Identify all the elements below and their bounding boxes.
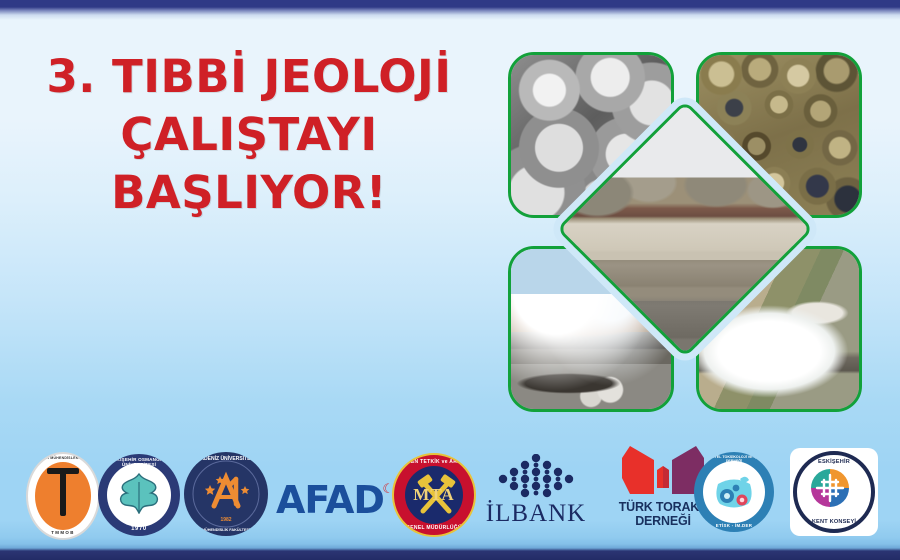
etisk-emblem: ENDÜSTRİYEL TOKSİKOLOJİ VE İŞ HİJYENİ DE… bbox=[694, 452, 774, 532]
afad-logo[interactable]: AFAD ☾ bbox=[276, 478, 384, 522]
jmo-bottom-label: TMMOB bbox=[28, 530, 98, 535]
mta-wordmark: MTA bbox=[394, 485, 474, 505]
ilbank-diamond-dots-icon bbox=[484, 454, 588, 498]
eskisehir-osmangazi-universitesi-logo[interactable]: ESKİŞEHİR OSMANGAZİ ÜNİVERSİTESİ 1970 bbox=[98, 454, 180, 536]
akdeniz-ring-label: AKDENİZ ÜNİVERSİTESİ bbox=[184, 456, 268, 462]
afad-wordmark: AFAD ☾ bbox=[276, 478, 384, 522]
kent-konseyi-emblem: ESKİŞEHİR KENT KONSEYİ bbox=[793, 451, 875, 533]
akdeniz-emblem: AKDENİZ ÜNİVERSİTESİ 1982 MÜHENDİSLİK FA… bbox=[184, 452, 268, 536]
mta-ring-bottom-label: GENEL MÜDÜRLÜĞÜ bbox=[394, 525, 474, 531]
mta-emblem: MTA MADEN TETKİK ve ARAMA GENEL MÜDÜRLÜĞ… bbox=[392, 453, 476, 537]
kent-konseyi-card: ESKİŞEHİR KENT KONSEYİ bbox=[790, 448, 878, 536]
ilbank-wordmark: İLBANK bbox=[484, 500, 588, 528]
kent-ring-bottom-label: KENT KONSEYİ bbox=[797, 519, 871, 525]
leaf-icon bbox=[117, 472, 161, 514]
esogu-emblem: ESKİŞEHİR OSMANGAZİ ÜNİVERSİTESİ 1970 bbox=[98, 454, 180, 536]
jmo-emblem: JEOLOJİ MÜHENDİSLERİ ODASI TMMOB bbox=[26, 452, 100, 540]
headline-line-1: 3. TIBBİ JEOLOJİ bbox=[10, 48, 488, 106]
esogu-ring-label: ESKİŞEHİR OSMANGAZİ ÜNİVERSİTESİ bbox=[98, 457, 180, 467]
ilbank-logo[interactable]: İLBANK bbox=[484, 454, 588, 528]
flask-gears-icon bbox=[694, 452, 774, 532]
akdeniz-year-label: 1982 bbox=[184, 517, 268, 523]
sponsor-logo-strip: JEOLOJİ MÜHENDİSLERİ ODASI TMMOB ESKİŞEH… bbox=[0, 442, 900, 542]
afad-text: AFAD bbox=[276, 478, 384, 522]
mta-ring-top-label: MADEN TETKİK ve ARAMA bbox=[394, 459, 474, 465]
page-title: 3. TIBBİ JEOLOJİ ÇALIŞTAYI BAŞLIYOR! bbox=[10, 48, 488, 222]
jmo-logo[interactable]: JEOLOJİ MÜHENDİSLERİ ODASI TMMOB bbox=[26, 452, 96, 536]
akdeniz-faculty-label: MÜHENDİSLİK FAKÜLTESİ bbox=[184, 528, 268, 532]
photo-collage bbox=[508, 52, 862, 412]
headline-line-3: BAŞLIYOR! bbox=[10, 164, 488, 222]
etisk-imder-logo[interactable]: ENDÜSTRİYEL TOKSİKOLOJİ VE İŞ HİJYENİ DE… bbox=[694, 452, 774, 532]
etisk-bottom-label: ETİSK - İM.DER bbox=[694, 523, 774, 528]
headline-line-2: ÇALIŞTAYI bbox=[10, 106, 488, 164]
mta-logo[interactable]: MTA MADEN TETKİK ve ARAMA GENEL MÜDÜRLÜĞ… bbox=[392, 453, 476, 537]
eskisehir-kent-konseyi-logo[interactable]: ESKİŞEHİR KENT KONSEYİ bbox=[790, 448, 878, 536]
esogu-year-label: 1970 bbox=[98, 526, 180, 532]
bottom-accent-band bbox=[0, 538, 900, 560]
etisk-ring-label: ENDÜSTRİYEL TOKSİKOLOJİ VE İŞ HİJYENİ DE… bbox=[694, 455, 774, 463]
kent-ring-top-label: ESKİŞEHİR bbox=[797, 459, 871, 465]
poster-canvas: 3. TIBBİ JEOLOJİ ÇALIŞTAYI BAŞLIYOR! bbox=[0, 0, 900, 560]
hammer-handle-icon bbox=[60, 472, 66, 516]
akdeniz-universitesi-logo[interactable]: AKDENİZ ÜNİVERSİTESİ 1982 MÜHENDİSLİK FA… bbox=[184, 452, 268, 536]
jmo-ring-label: JEOLOJİ MÜHENDİSLERİ ODASI bbox=[28, 456, 98, 460]
top-accent-band bbox=[0, 0, 900, 20]
akdeniz-monogram-icon bbox=[184, 452, 268, 536]
